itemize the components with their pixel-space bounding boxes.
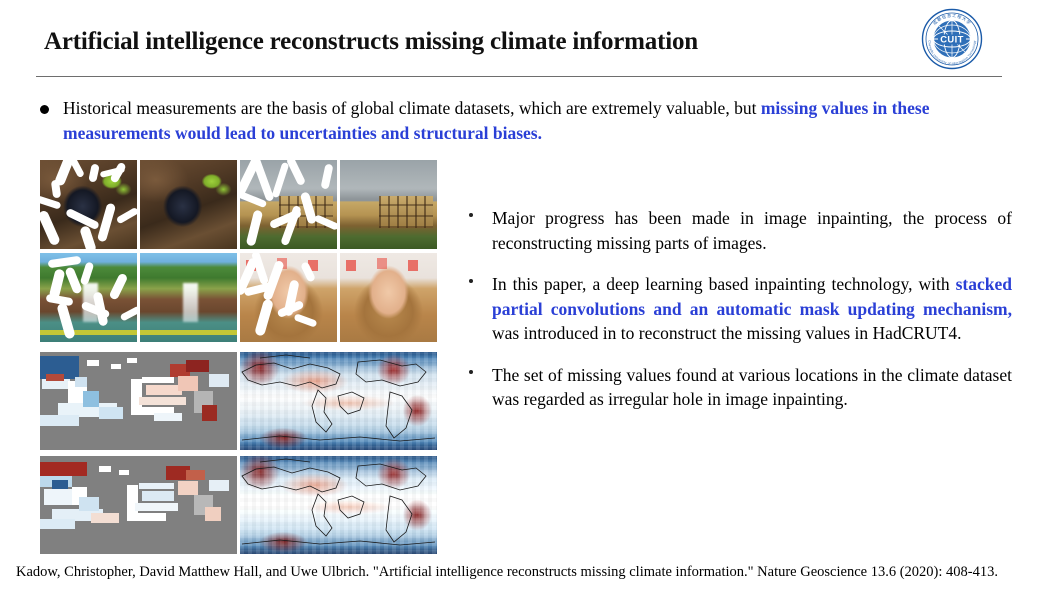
climate-map-observed-gaps-bottom	[40, 456, 237, 554]
bullet-segment: Major progress has been made in image in…	[492, 208, 1012, 253]
portrait-photo-restored	[340, 253, 437, 342]
bullet-segment: was introduced in to reconstruct the mis…	[492, 323, 962, 343]
coastline-overlay	[240, 456, 437, 554]
figure-row-photos-1	[40, 160, 440, 249]
bullet-dot-icon	[469, 279, 473, 283]
bullet-text: Major progress has been made in image in…	[492, 206, 1012, 255]
figure-row-climate-maps-2	[40, 456, 440, 554]
lead-bullet: Historical measurements are the basis of…	[38, 96, 958, 146]
hanging-houses-photo-masked	[240, 160, 337, 249]
figure-row-photos-2	[40, 253, 440, 342]
header-divider	[36, 76, 1002, 77]
coastline-overlay	[40, 456, 237, 554]
bullet-segment: In this paper, a deep learning based inp…	[492, 274, 956, 294]
coastline-overlay	[40, 352, 237, 450]
lead-bullet-plain: Historical measurements are the basis of…	[63, 98, 761, 118]
bullet-list: Major progress has been made in image in…	[466, 206, 1012, 429]
portrait-photo-masked	[240, 253, 337, 342]
bullet-segment: The set of missing values found at vario…	[492, 365, 1012, 410]
climate-map-reconstructed-bottom	[240, 456, 437, 554]
bullet-irregular-hole: The set of missing values found at vario…	[466, 363, 1012, 412]
bullet-image-inpainting: Major progress has been made in image in…	[466, 206, 1012, 255]
svg-text:CUIT: CUIT	[940, 34, 963, 45]
bullet-dot-icon	[469, 370, 473, 374]
inpainting-examples-figure	[40, 160, 440, 556]
climate-map-reconstructed-top	[240, 352, 437, 450]
bullet-text: The set of missing values found at vario…	[492, 363, 1012, 412]
bullet-deep-learning-method: In this paper, a deep learning based inp…	[466, 272, 1012, 346]
climate-map-observed-gaps-top	[40, 352, 237, 450]
waterfall-photo-restored	[140, 253, 237, 342]
bullet-text: In this paper, a deep learning based inp…	[492, 272, 1012, 346]
waterfall-photo-masked	[40, 253, 137, 342]
citation-text: Kadow, Christopher, David Matthew Hall, …	[16, 562, 1028, 583]
spider-photo-restored	[140, 160, 237, 249]
lead-bullet-text: Historical measurements are the basis of…	[63, 96, 958, 146]
bullet-dot-icon	[40, 105, 49, 114]
hanging-houses-photo-restored	[340, 160, 437, 249]
figure-row-climate-maps-1	[40, 352, 440, 450]
cuit-university-logo-icon: CUIT 成都信息工程大学 Chengdu University of Info…	[921, 8, 983, 70]
bullet-dot-icon	[469, 213, 473, 217]
spider-photo-masked	[40, 160, 137, 249]
page-title: Artificial intelligence reconstructs mis…	[44, 28, 904, 56]
coastline-overlay	[240, 352, 437, 450]
